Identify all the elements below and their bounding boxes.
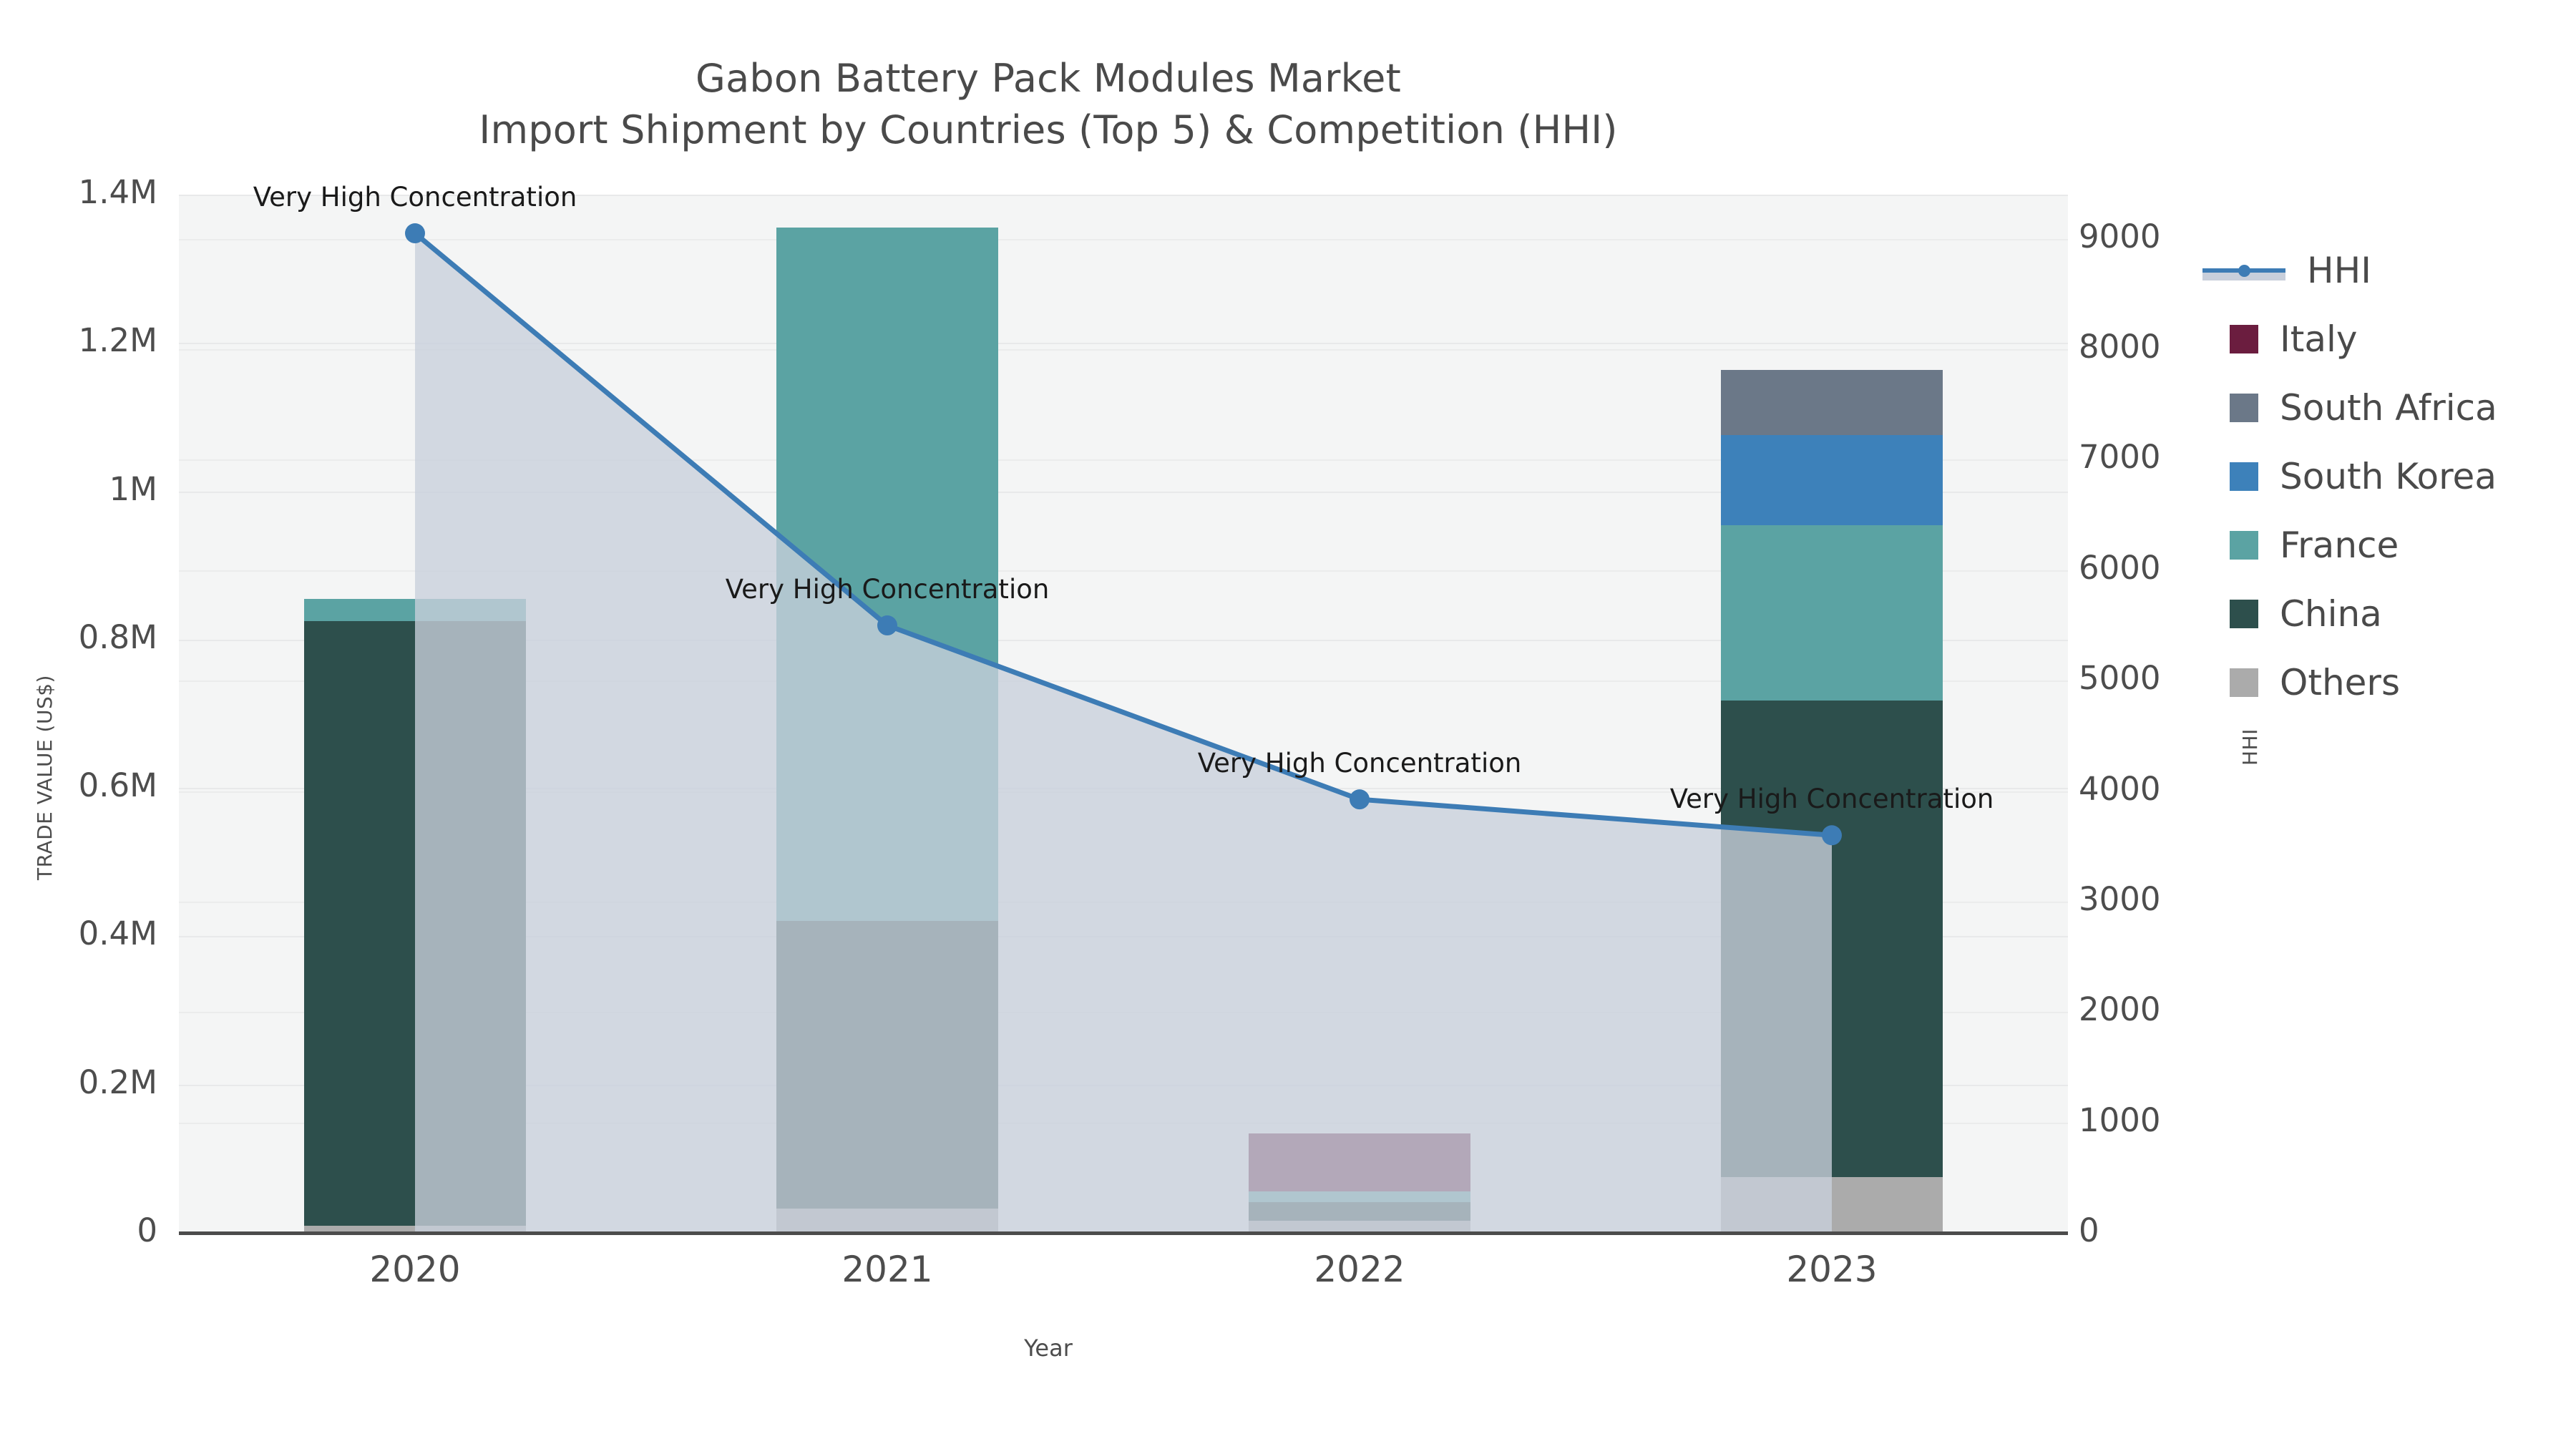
- legend-item-italy[interactable]: Italy: [2202, 305, 2497, 374]
- x-tick-label: 2021: [780, 1249, 995, 1290]
- chart-container: Gabon Battery Pack Modules Market Import…: [0, 0, 2576, 1449]
- y-axis-left-label: TRADE VALUE (US$): [33, 675, 57, 880]
- x-tick-label: 2022: [1252, 1249, 1467, 1290]
- hhi-point-annotation: Very High Concentration: [165, 182, 665, 213]
- bar-segment[interactable]: [1721, 701, 1943, 1177]
- gridline-secondary: [179, 239, 2068, 240]
- bar-segment[interactable]: [304, 599, 526, 621]
- gridline: [179, 343, 2068, 344]
- gridline-secondary: [179, 349, 2068, 351]
- legend-item-label: South Africa: [2280, 387, 2497, 429]
- legend-item-label: Italy: [2280, 318, 2357, 360]
- y-tick-label-right: 4000: [2079, 770, 2161, 808]
- bar-segment[interactable]: [1249, 1191, 1470, 1202]
- y-tick-label-right: 1000: [2079, 1101, 2161, 1139]
- chart-title-line2: Import Shipment by Countries (Top 5) & C…: [0, 107, 2097, 153]
- y-tick-label-left: 1.4M: [14, 173, 157, 211]
- legend-item-hhi[interactable]: HHI: [2202, 236, 2497, 305]
- x-axis-label: Year: [0, 1335, 2097, 1362]
- chart-legend: HHIItalySouth AfricaSouth KoreaFranceChi…: [2202, 236, 2497, 717]
- legend-item-china[interactable]: China: [2202, 580, 2497, 648]
- y-tick-label-right: 9000: [2079, 218, 2161, 255]
- y-tick-label-left: 0.2M: [14, 1063, 157, 1101]
- legend-line-marker-icon: [2202, 256, 2285, 285]
- y-tick-label-left: 0.8M: [14, 618, 157, 656]
- y-axis-right-label: HHI: [2238, 728, 2262, 766]
- y-tick-label-left: 1M: [14, 470, 157, 508]
- legend-swatch-icon: [2230, 462, 2258, 491]
- legend-swatch-icon: [2230, 325, 2258, 353]
- bar-segment[interactable]: [1249, 1202, 1470, 1221]
- bar-segment[interactable]: [776, 921, 998, 1209]
- legend-item-others[interactable]: Others: [2202, 648, 2497, 717]
- legend-item-label: South Korea: [2280, 456, 2497, 497]
- bar-segment[interactable]: [1721, 370, 1943, 435]
- y-tick-label-left: 0.4M: [14, 914, 157, 952]
- legend-item-france[interactable]: France: [2202, 511, 2497, 580]
- hhi-point-annotation: Very High Concentration: [637, 574, 1138, 605]
- legend-swatch-icon: [2230, 394, 2258, 422]
- y-tick-label-left: 1.2M: [14, 321, 157, 359]
- legend-item-south-africa[interactable]: South Africa: [2202, 374, 2497, 442]
- y-tick-label-right: 6000: [2079, 549, 2161, 587]
- hhi-point-annotation: Very High Concentration: [1109, 748, 1610, 779]
- y-tick-label-right: 8000: [2079, 328, 2161, 366]
- bar-segment[interactable]: [1721, 435, 1943, 525]
- chart-title-line1: Gabon Battery Pack Modules Market: [0, 56, 2097, 102]
- legend-swatch-icon: [2230, 531, 2258, 560]
- y-tick-label-right: 5000: [2079, 659, 2161, 697]
- legend-item-label: France: [2280, 525, 2399, 566]
- y-tick-label-right: 7000: [2079, 438, 2161, 476]
- bar-segment[interactable]: [1721, 1177, 1943, 1233]
- legend-swatch-icon: [2230, 668, 2258, 697]
- bar-segment[interactable]: [776, 1209, 998, 1233]
- x-tick-label: 2020: [308, 1249, 522, 1290]
- legend-item-label: China: [2280, 593, 2382, 635]
- hhi-point-annotation: Very High Concentration: [1581, 784, 2082, 814]
- x-axis-spine: [179, 1231, 2068, 1235]
- bar-segment[interactable]: [304, 621, 526, 1226]
- y-tick-label-right: 2000: [2079, 990, 2161, 1028]
- legend-item-south-korea[interactable]: South Korea: [2202, 442, 2497, 511]
- legend-item-label: Others: [2280, 662, 2400, 703]
- legend-swatch-icon: [2230, 600, 2258, 628]
- y-tick-label-right: 3000: [2079, 880, 2161, 918]
- y-tick-label-left: 0: [14, 1211, 157, 1249]
- bar-segment[interactable]: [1721, 525, 1943, 701]
- bar-segment[interactable]: [1249, 1133, 1470, 1191]
- x-tick-label: 2023: [1724, 1249, 1939, 1290]
- chart-title: Gabon Battery Pack Modules Market Import…: [0, 56, 2097, 152]
- legend-line-dot-icon: [2238, 265, 2250, 277]
- y-tick-label-right: 0: [2079, 1211, 2099, 1249]
- legend-item-label: HHI: [2307, 250, 2371, 291]
